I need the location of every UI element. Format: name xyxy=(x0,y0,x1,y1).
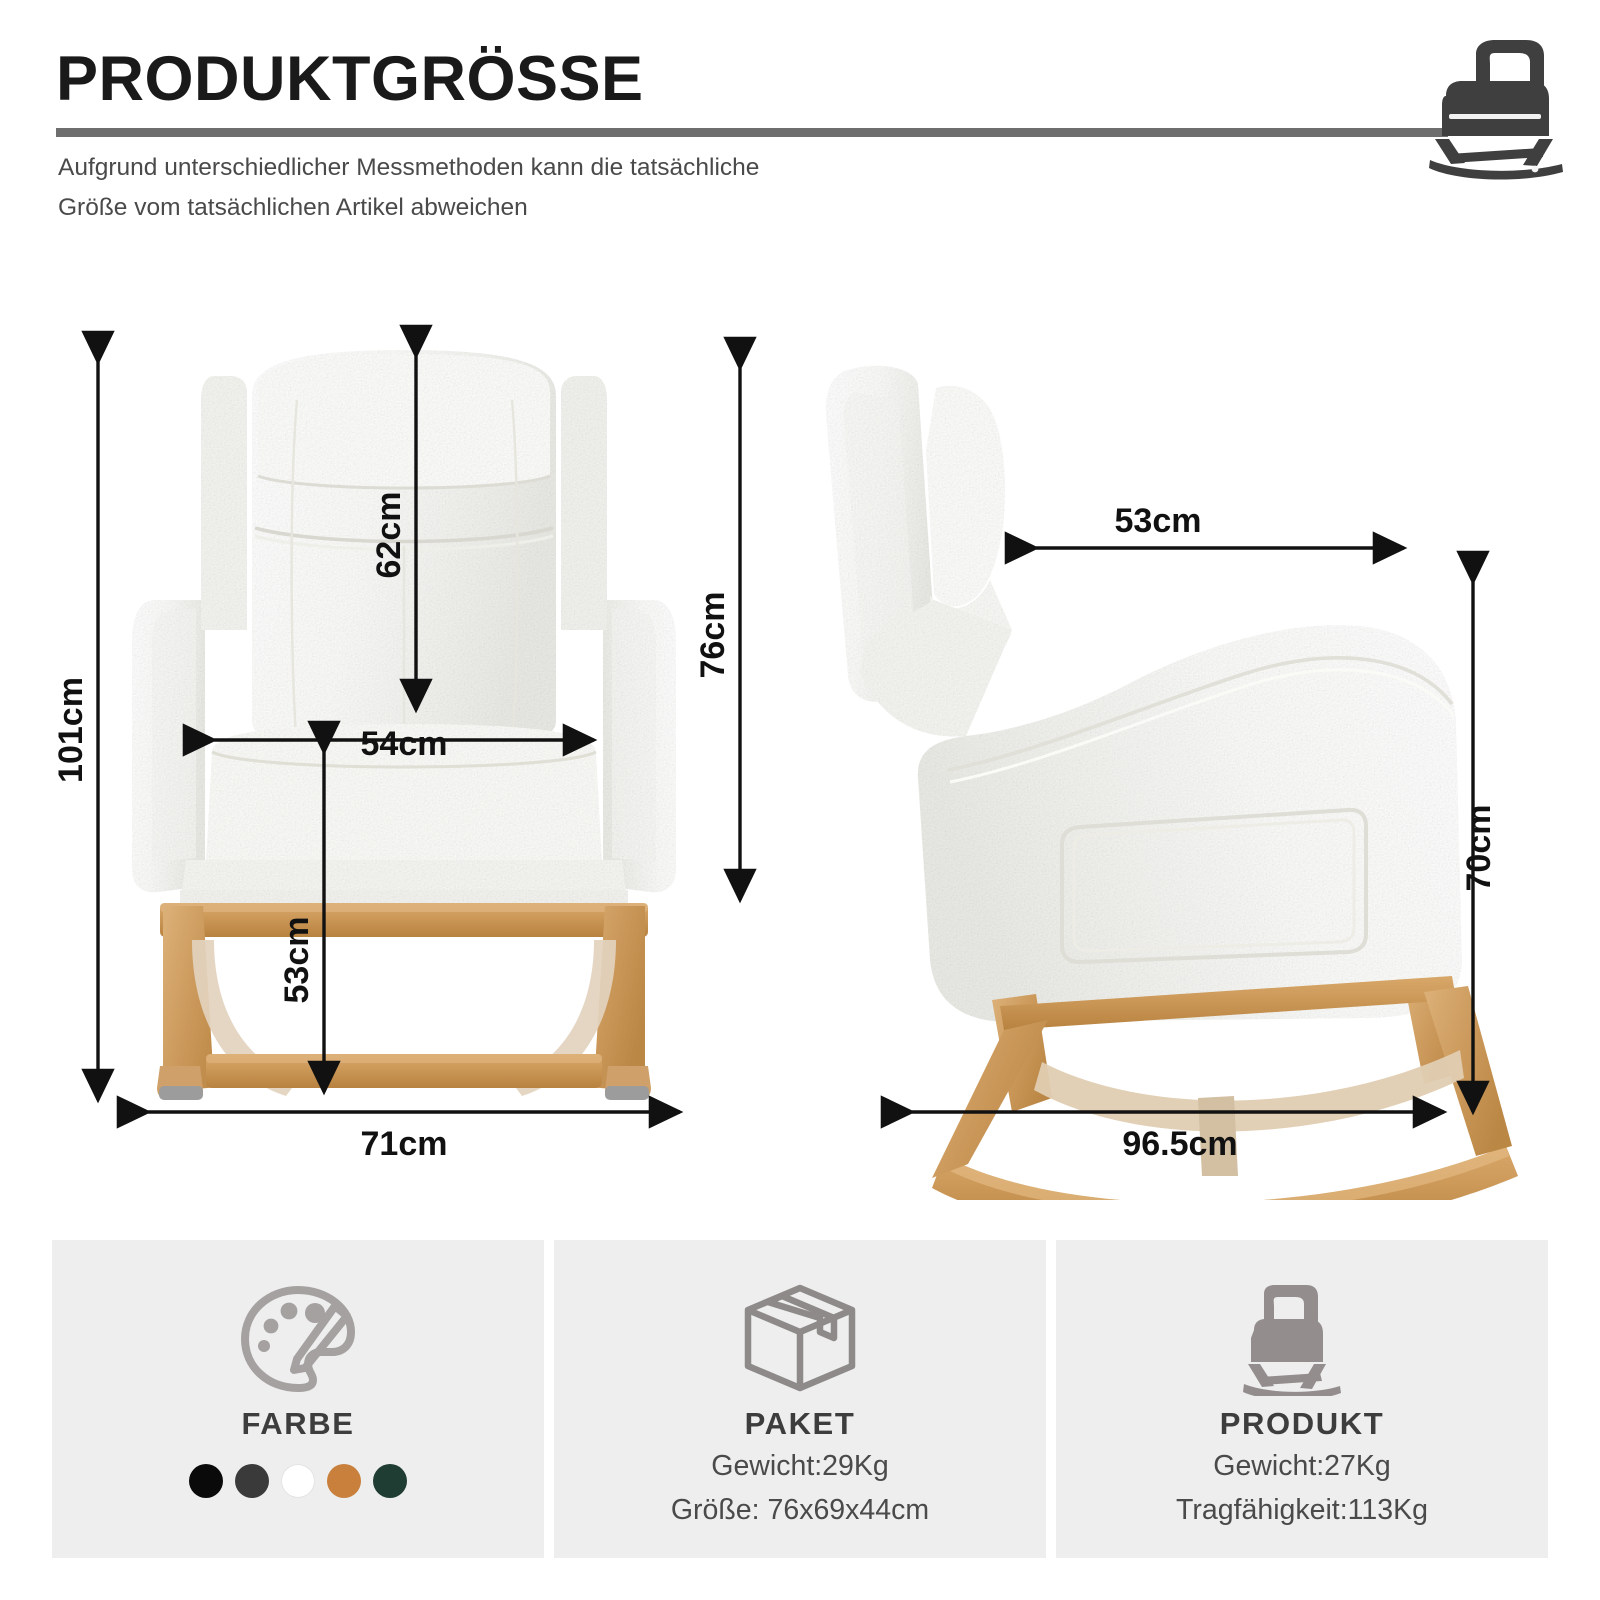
dimension-label-depth: 53cm xyxy=(1115,502,1202,540)
dimension-diagram: 101cm 76cm 62cm 54cm 53cm 71cm 53cm 70cm… xyxy=(0,300,1600,1200)
palette-icon-wrap xyxy=(235,1280,361,1396)
card-paket-size: Größe: 76x69x44cm xyxy=(671,1490,929,1530)
color-swatch-dunkelgrau[interactable] xyxy=(235,1464,269,1498)
card-produkt-title: PRODUKT xyxy=(1220,1406,1384,1442)
card-paket-title: PAKET xyxy=(745,1406,856,1442)
card-farbe: FARBE xyxy=(52,1240,544,1558)
palette-icon xyxy=(235,1282,361,1394)
dimension-label-side-height: 70cm xyxy=(1460,805,1498,892)
header-divider xyxy=(56,128,1448,137)
dimension-label-back-height: 76cm xyxy=(694,592,732,679)
card-produkt: PRODUKT Gewicht:27Kg Tragfähigkeit:113Kg xyxy=(1056,1240,1548,1558)
card-produkt-capacity: Tragfähigkeit:113Kg xyxy=(1176,1490,1428,1530)
box-icon-wrap xyxy=(738,1280,862,1396)
dimension-label-seat-height: 53cm xyxy=(278,917,316,1004)
card-paket-weight: Gewicht:29Kg xyxy=(711,1446,888,1486)
chair-side-view xyxy=(826,366,1518,1200)
color-swatch-list xyxy=(189,1464,407,1498)
info-cards: FARBE PAKET xyxy=(52,1240,1548,1558)
page-title: PRODUKTGRÖSSE xyxy=(56,48,644,111)
product-rocking-chair-icon xyxy=(1240,1280,1364,1396)
card-produkt-weight: Gewicht:27Kg xyxy=(1213,1446,1390,1486)
dimension-label-front-width: 71cm xyxy=(361,1125,448,1163)
dimension-label-backrest: 62cm xyxy=(370,492,408,579)
color-swatch-dunkelgruen[interactable] xyxy=(373,1464,407,1498)
package-box-icon xyxy=(738,1280,862,1396)
header-subtitle-line-2: Größe vom tatsächlichen Artikel abweiche… xyxy=(58,188,858,228)
color-swatch-weiss[interactable] xyxy=(281,1464,315,1498)
card-paket: PAKET Gewicht:29Kg Größe: 76x69x44cm xyxy=(554,1240,1046,1558)
dimension-label-height-total: 101cm xyxy=(52,677,90,783)
card-farbe-title: FARBE xyxy=(241,1406,354,1442)
product-chair-icon-wrap xyxy=(1240,1280,1364,1396)
color-swatch-schwarz[interactable] xyxy=(189,1464,223,1498)
dimension-label-seat-width: 54cm xyxy=(361,725,448,763)
header-subtitle: Aufgrund unterschiedlicher Messmethoden … xyxy=(58,148,858,227)
rocking-chair-icon xyxy=(1402,36,1582,181)
header-subtitle-line-1: Aufgrund unterschiedlicher Messmethoden … xyxy=(58,148,858,188)
color-swatch-ocker[interactable] xyxy=(327,1464,361,1498)
dimension-label-total-length: 96.5cm xyxy=(1122,1125,1237,1163)
